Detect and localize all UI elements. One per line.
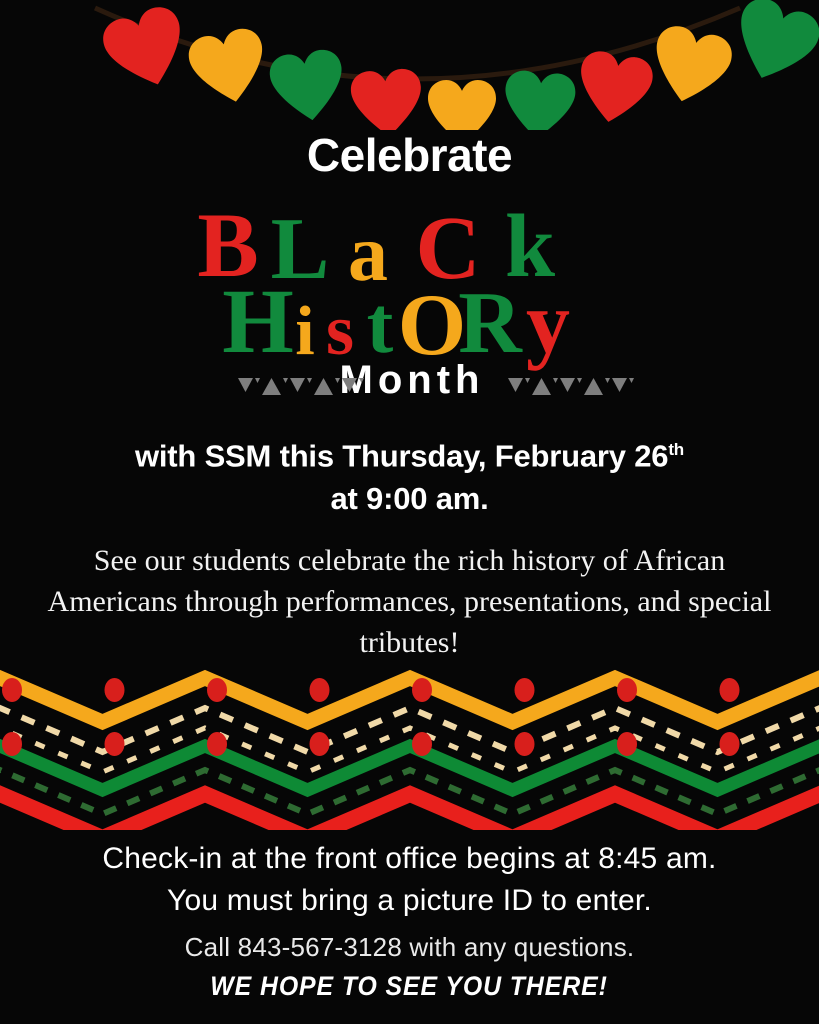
- footer-block: Check-in at the front office begins at 8…: [0, 838, 819, 1002]
- dot-ornament: [207, 678, 227, 702]
- dot-ornament: [720, 678, 740, 702]
- dot-ornament: [617, 732, 637, 756]
- date-line-1: with SSM this Thursday, February 26th: [0, 428, 819, 477]
- heart-garland: [0, 0, 819, 130]
- heart-icon: [573, 48, 656, 128]
- dot-ornament: [105, 678, 125, 702]
- footer-phone-line: Call 843-567-3128 with any questions.: [0, 932, 819, 963]
- dot-ornament: [720, 732, 740, 756]
- zigzag-line: [0, 794, 819, 830]
- dot-ornament: [310, 732, 330, 756]
- dot-ornament: [515, 732, 535, 756]
- dot-ornament: [617, 678, 637, 702]
- date-line-2: at 9:00 am.: [0, 477, 819, 520]
- dot-ornament: [207, 732, 227, 756]
- footer-closing-line: WE HOPE TO SEE YOU THERE!: [211, 971, 609, 1002]
- logo-letter: H: [222, 270, 294, 372]
- triangle-ornament-icon: [508, 378, 634, 395]
- dot-ornament: [515, 678, 535, 702]
- event-date-block: with SSM this Thursday, February 26th at…: [0, 428, 819, 520]
- heart-icon: [501, 69, 577, 130]
- logo-letter: y: [526, 275, 570, 372]
- dot-ornament: [105, 732, 125, 756]
- dot-ornament: [310, 678, 330, 702]
- footer-id-line: You must bring a picture ID to enter.: [0, 880, 819, 922]
- heart-icon: [267, 47, 348, 125]
- date-line-1-text: with SSM this Thursday, February 26: [135, 438, 668, 473]
- date-ordinal-suffix: th: [668, 440, 684, 459]
- black-history-month-logo: BLaCkHistORyMonth: [0, 190, 819, 405]
- logo-letter: i: [295, 293, 314, 370]
- dot-ornament: [412, 732, 432, 756]
- heart-icon: [645, 22, 736, 110]
- footer-checkin-line: Check-in at the front office begins at 8…: [0, 838, 819, 880]
- zigzag-pattern-band: [0, 668, 819, 830]
- heart-icon: [428, 80, 496, 130]
- headline-celebrate: Celebrate: [0, 128, 819, 182]
- heart-icon: [185, 25, 272, 109]
- body-paragraph: See our students celebrate the rich hist…: [40, 540, 779, 663]
- dot-ornament: [2, 678, 22, 702]
- dot-ornament: [412, 678, 432, 702]
- logo-letter: t: [367, 282, 394, 370]
- dot-ornament: [2, 732, 22, 756]
- heart-icon: [724, 0, 819, 92]
